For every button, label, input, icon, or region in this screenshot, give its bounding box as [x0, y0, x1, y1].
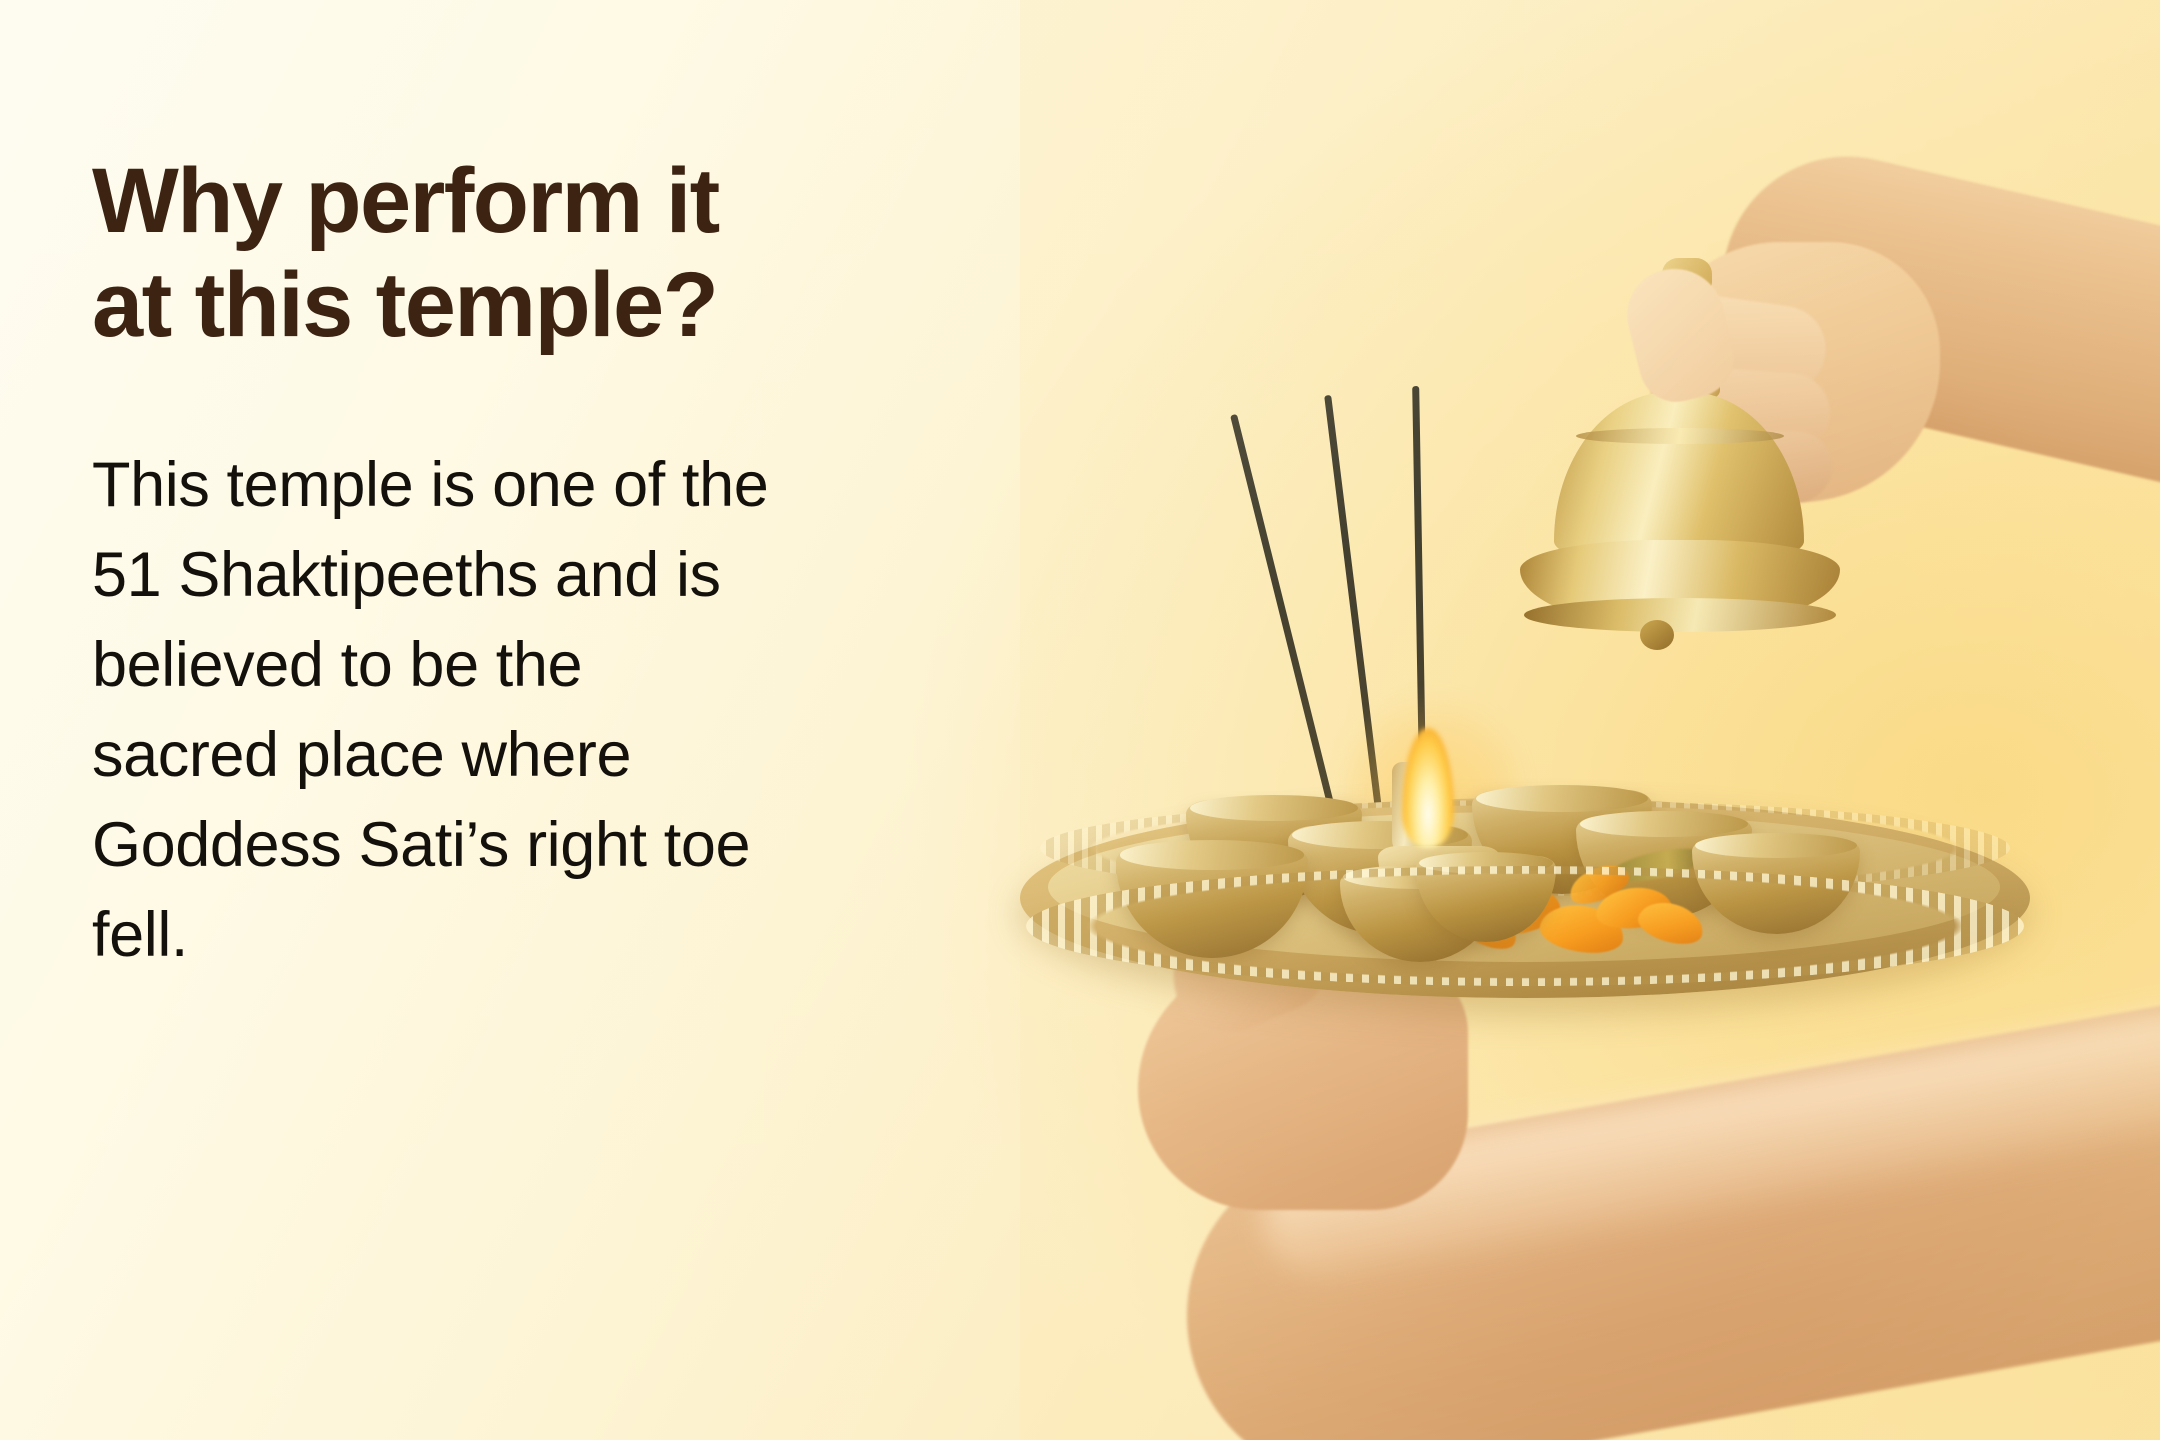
thali-rim-front: [1026, 866, 2024, 986]
puja-photo: [1020, 0, 2160, 1440]
incense-stick-icon: [1230, 414, 1341, 833]
page-title: Why perform it at this temple?: [92, 150, 1052, 358]
body-paragraph: This temple is one of the 51 Shaktipeeth…: [92, 358, 972, 980]
slide-canvas: Why perform it at this temple? This temp…: [0, 0, 2160, 1440]
bell-clapper: [1640, 620, 1674, 650]
bell-ring-detail: [1576, 428, 1784, 444]
bell-lip: [1524, 598, 1836, 632]
text-column: Why perform it at this temple? This temp…: [92, 150, 1052, 980]
